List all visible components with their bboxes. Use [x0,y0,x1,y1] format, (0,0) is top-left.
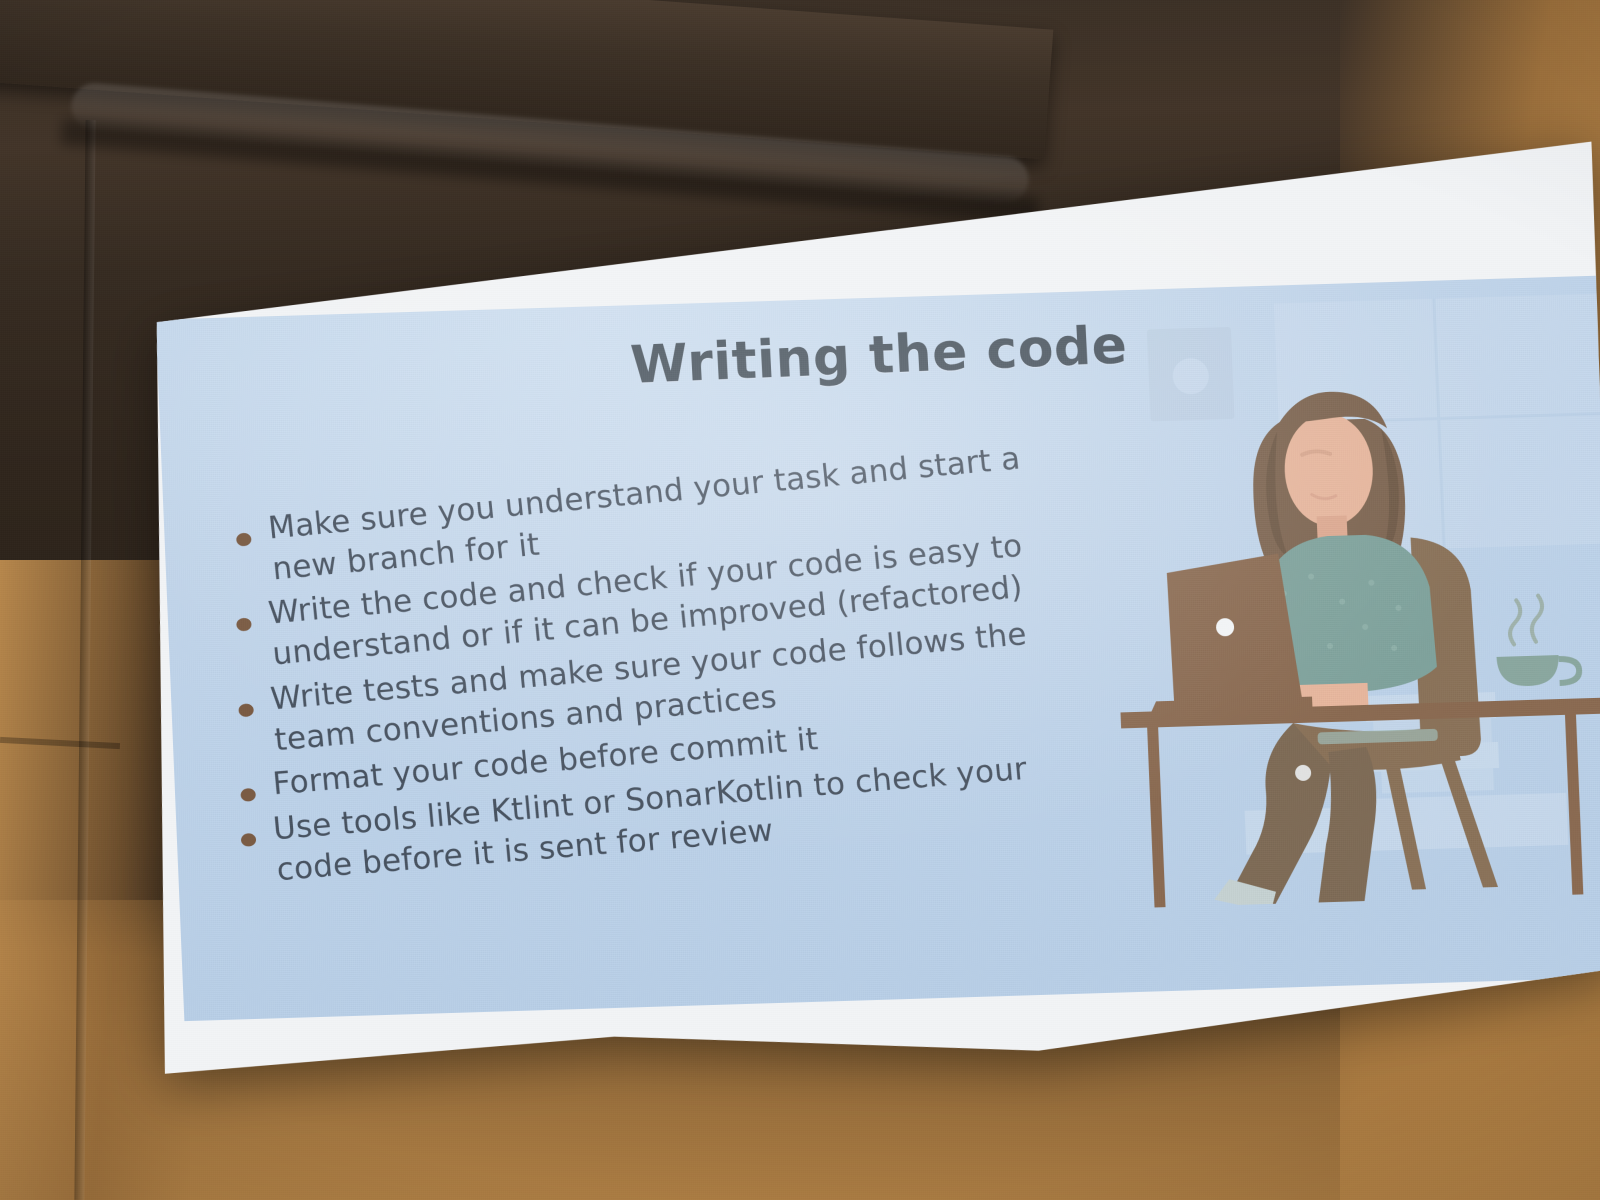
bullet-dot-icon [235,618,251,632]
projection-screen-sheet: Writing the code Make sure you understan… [80,139,1600,1084]
bullet-dot-icon [240,788,256,802]
coffee-cup-icon [1494,594,1580,686]
wall-picture-frame-icon [1147,327,1235,421]
projection-screen: Writing the code Make sure you understan… [80,139,1600,1084]
bullet-dot-icon [240,832,256,846]
laptop-screen-icon [1166,553,1302,703]
steam-icon [1509,600,1522,644]
steam-icon [1530,595,1543,641]
desk-leg-right-icon [1565,714,1584,908]
desk-leg-left-icon [1147,727,1166,908]
illustration-woman-at-desk [1104,293,1600,908]
room-background: Writing the code Make sure you understan… [0,0,1600,1200]
presentation-slide: Writing the code Make sure you understan… [155,276,1600,1021]
bullet-dot-icon [235,532,251,546]
bullet-dot-icon [238,703,254,717]
slide-bullet-list: Make sure you understand your task and s… [219,437,1113,899]
